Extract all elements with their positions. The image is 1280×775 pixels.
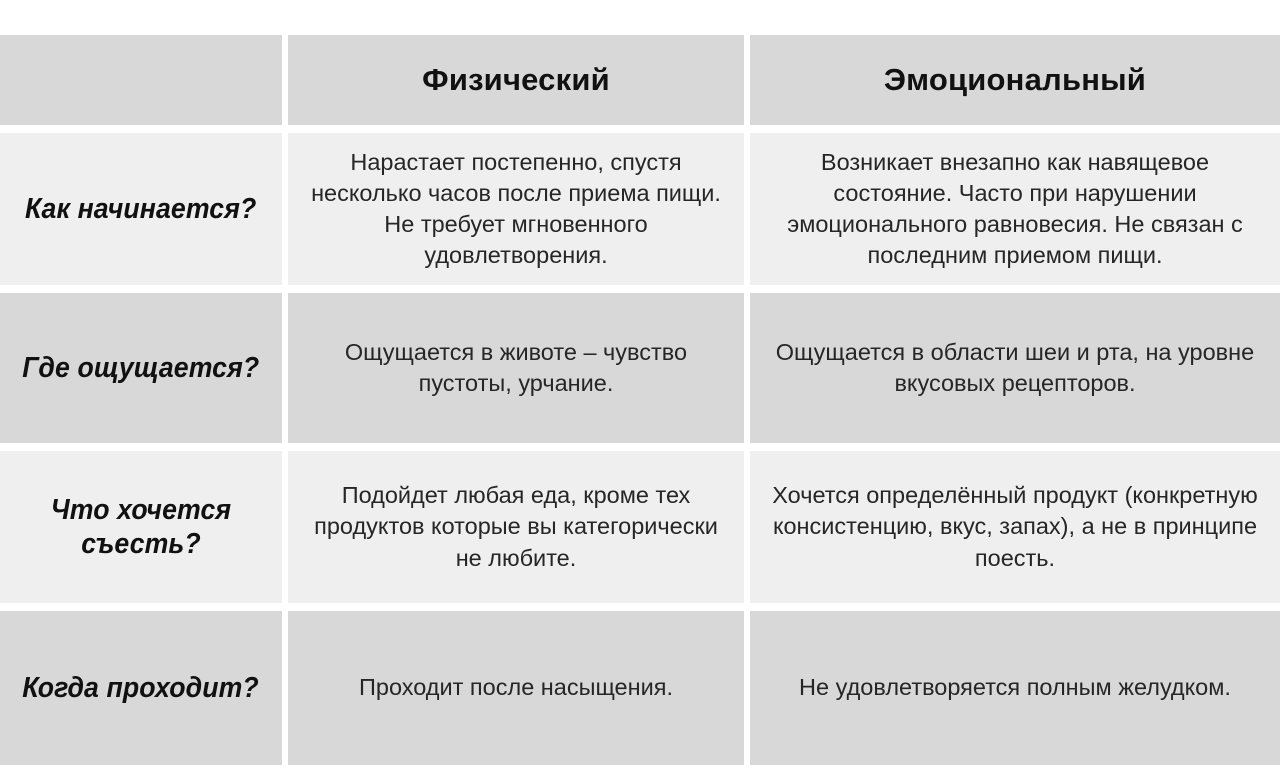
- row-physical-text: Ощущается в животе – чувство пустоты, ур…: [288, 337, 744, 400]
- row-physical-cell: Проходит после насыщения.: [288, 611, 744, 765]
- header-cell-emotional: Эмоциональный: [750, 35, 1280, 125]
- row-emotional-cell: Хочется определённый продукт (конкретную…: [750, 451, 1280, 603]
- row-label-text: Что хочется съесть?: [11, 493, 270, 561]
- row-emotional-text: Хочется определённый продукт (конкретную…: [750, 480, 1280, 574]
- header-label-physical: Физический: [422, 63, 610, 97]
- row-label-text: Где ощущается?: [11, 351, 270, 385]
- row-label-text: Как начинается?: [14, 192, 267, 226]
- row-label-text: Когда проходит?: [12, 671, 271, 705]
- row-emotional-cell: Не удовлетворяется полным желудком.: [750, 611, 1280, 765]
- row-physical-cell: Ощущается в животе – чувство пустоты, ур…: [288, 293, 744, 443]
- row-physical-cell: Подойдет любая еда, кроме тех продуктов …: [288, 451, 744, 603]
- row-emotional-text: Возникает внезапно как навящевое состоян…: [750, 147, 1280, 272]
- row-physical-text: Проходит после насыщения.: [345, 672, 687, 703]
- row-physical-text: Подойдет любая еда, кроме тех продуктов …: [288, 480, 744, 574]
- row-label-cell: Когда проходит?: [0, 611, 282, 765]
- row-emotional-cell: Возникает внезапно как навящевое состоян…: [750, 133, 1280, 285]
- row-emotional-text: Ощущается в области шеи и рта, на уровне…: [750, 337, 1280, 400]
- row-label-cell: Как начинается?: [0, 133, 282, 285]
- row-physical-text: Нарастает постепенно, спустя несколько ч…: [288, 147, 744, 272]
- table-row: Когда проходит? Проходит после насыщения…: [0, 611, 1280, 765]
- header-cell-empty: [0, 35, 282, 125]
- table-row: Где ощущается? Ощущается в животе – чувс…: [0, 293, 1280, 443]
- row-label-cell: Где ощущается?: [0, 293, 282, 443]
- header-cell-physical: Физический: [288, 35, 744, 125]
- row-emotional-text: Не удовлетворяется полным желудком.: [785, 672, 1245, 703]
- row-emotional-cell: Ощущается в области шеи и рта, на уровне…: [750, 293, 1280, 443]
- table-header-row: Физический Эмоциональный: [0, 35, 1280, 125]
- row-label-cell: Что хочется съесть?: [0, 451, 282, 603]
- header-label-emotional: Эмоциональный: [884, 63, 1146, 97]
- table-row: Что хочется съесть? Подойдет любая еда, …: [0, 451, 1280, 603]
- row-physical-cell: Нарастает постепенно, спустя несколько ч…: [288, 133, 744, 285]
- table-row: Как начинается? Нарастает постепенно, сп…: [0, 133, 1280, 285]
- comparison-table: Физический Эмоциональный Как начинается?…: [0, 35, 1280, 757]
